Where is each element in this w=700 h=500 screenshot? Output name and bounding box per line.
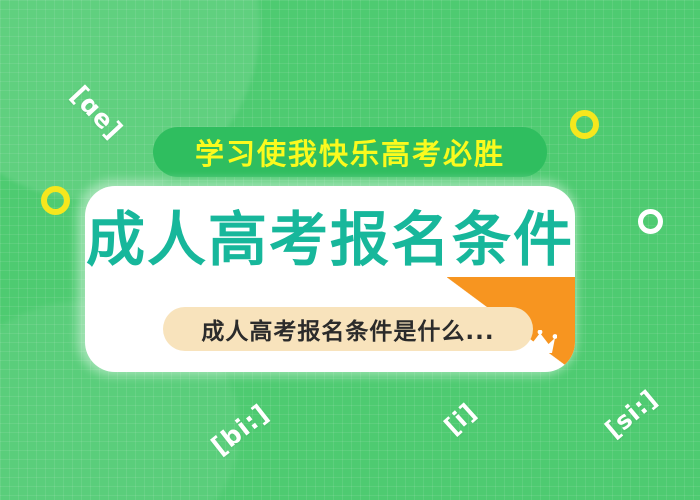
yellow-ring-top-right-icon — [570, 110, 599, 139]
page-title: 成人高考报名条件 — [85, 210, 575, 269]
poster-canvas: [ɑe] [bi:] [i] [si:] 学习使我快乐高考必胜 成人高考报名条件… — [0, 0, 700, 500]
white-ring-right-icon — [638, 209, 663, 234]
subtitle-text: 成人高考报名条件是什么... — [201, 312, 494, 346]
yellow-ring-left-icon — [41, 186, 70, 215]
subtitle-pill: 成人高考报名条件是什么... — [163, 307, 533, 351]
phonetic-mark-4: [si:] — [600, 384, 663, 443]
slogan-banner-text: 学习使我快乐高考必胜 — [195, 131, 505, 173]
slogan-banner: 学习使我快乐高考必胜 — [153, 127, 547, 177]
phonetic-mark-3: [i] — [439, 397, 482, 440]
